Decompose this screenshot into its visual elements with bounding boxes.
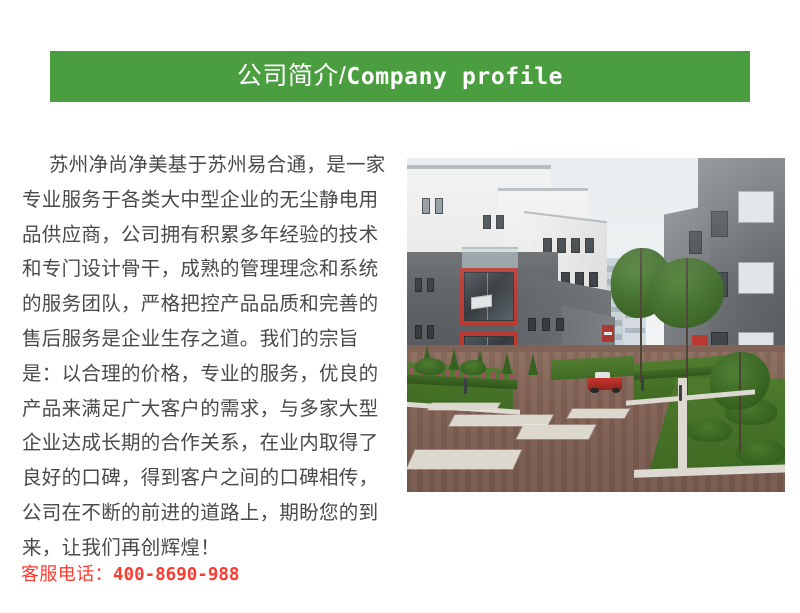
- red-vehicle: [588, 372, 622, 394]
- page-title-english: Company profile: [346, 64, 563, 90]
- red-framed-corner-window: [460, 268, 519, 325]
- paragraph-line: 是：以合理的价格，专业的服务，优良的: [22, 357, 382, 392]
- photo-scene: [407, 158, 785, 492]
- paragraph-line: 企业达成长期的合作关系，在业内取得了: [22, 426, 382, 461]
- paragraph-line: 的服务团队，严格把控产品品质和完善的: [22, 287, 382, 322]
- window: [738, 262, 774, 294]
- shrub: [415, 358, 445, 375]
- company-profile-text: 苏州净尚净美基于苏州易合通，是一家 专业服务于各类大中型企业的无尘静电用 品供应…: [22, 148, 382, 566]
- window: [689, 231, 702, 253]
- page-title-chinese: 公司简介: [237, 62, 339, 90]
- paragraph-line: 来，让我们再创辉煌！: [22, 531, 382, 566]
- window-row: [422, 198, 443, 214]
- paragraph-line: 良好的口碑，得到客户之间的口碑相传，: [22, 461, 382, 496]
- section-header-banner: 公司简介/Company profile: [50, 51, 750, 102]
- window-row: [483, 215, 504, 229]
- conifer-shrub: [502, 352, 512, 374]
- bollard: [679, 385, 682, 401]
- tree: [709, 352, 769, 452]
- paragraph-line: 和专门设计骨干，成熟的管理理念和系统: [22, 252, 382, 287]
- page-title: 公司简介/Company profile: [237, 64, 563, 89]
- page-root: 公司简介/Company profile 苏州净尚净美基于苏州易合通，是一家 专…: [0, 0, 800, 613]
- paragraph-line: 公司在不断的前进的道路上，期盼您的到: [22, 496, 382, 531]
- paving-panel: [407, 450, 521, 469]
- shrub: [460, 360, 486, 375]
- window-row: [415, 325, 434, 339]
- conifer-shrub: [528, 353, 538, 375]
- paragraph-line: 产品来满足广大客户的需求，与多家大型: [22, 392, 382, 427]
- bollard: [464, 378, 467, 394]
- paragraph-line: 品供应商，公司拥有积累多年经验的技术: [22, 218, 382, 253]
- customer-service-phone: 客服电话：400-8690-988: [21, 562, 239, 587]
- window: [711, 211, 728, 236]
- paving-panel: [517, 425, 596, 439]
- paragraph-line: 苏州净尚净美基于苏州易合通，是一家: [22, 148, 382, 183]
- phone-label: 客服电话：: [21, 564, 113, 584]
- paving-panel: [567, 409, 629, 418]
- phone-number: 400-8690-988: [113, 565, 239, 585]
- paragraph-line: 售后服务是企业生存之道。我们的宗旨: [22, 322, 382, 357]
- window-row: [415, 278, 434, 292]
- window: [738, 191, 774, 223]
- company-photo: [407, 158, 785, 492]
- paving-panel: [428, 403, 500, 410]
- conifer-shrub: [449, 348, 459, 370]
- bollard: [641, 375, 644, 391]
- paragraph-line: 专业服务于各类大中型企业的无尘静电用: [22, 183, 382, 218]
- window-row: [528, 318, 564, 331]
